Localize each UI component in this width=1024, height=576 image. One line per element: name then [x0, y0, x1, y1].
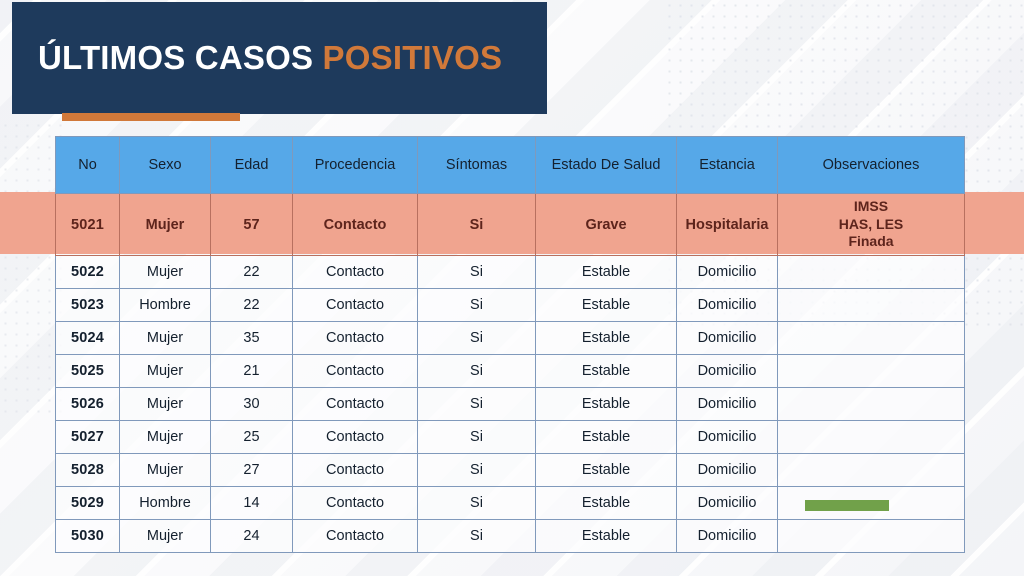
cell-observaciones	[778, 289, 965, 322]
observaciones-line: HAS, LES	[780, 216, 962, 234]
table-row[interactable]: 5026Mujer30ContactoSiEstableDomicilio	[56, 388, 965, 421]
column-header-observaciones[interactable]: Observaciones	[778, 137, 965, 194]
cell-sintomas: Si	[418, 256, 536, 289]
cell-observaciones	[778, 322, 965, 355]
cell-procedencia: Contacto	[293, 520, 418, 553]
column-header-sintomas[interactable]: Síntomas	[418, 137, 536, 194]
cell-edad: 22	[211, 289, 293, 322]
cell-estado-de-salud: Estable	[536, 256, 677, 289]
cases-table: No Sexo Edad Procedencia Síntomas Estado…	[55, 136, 965, 553]
cell-procedencia: Contacto	[293, 388, 418, 421]
cell-procedencia: Contacto	[293, 256, 418, 289]
cell-estancia: Domicilio	[677, 289, 778, 322]
cell-procedencia: Contacto	[293, 454, 418, 487]
cell-estado-de-salud: Estable	[536, 421, 677, 454]
table-row[interactable]: 5028Mujer27ContactoSiEstableDomicilio	[56, 454, 965, 487]
page-title: ÚLTIMOS CASOS POSITIVOS	[38, 40, 502, 76]
title-panel: ÚLTIMOS CASOS POSITIVOS	[12, 2, 547, 114]
slide-canvas: ÚLTIMOS CASOS POSITIVOS No Sexo Edad Pro…	[0, 0, 1024, 576]
cell-estancia: Domicilio	[677, 388, 778, 421]
cell-observaciones: IMSSHAS, LESFinada	[778, 194, 965, 256]
cell-estado-de-salud: Estable	[536, 355, 677, 388]
table-row[interactable]: 5023Hombre22ContactoSiEstableDomicilio	[56, 289, 965, 322]
cell-no: 5027	[56, 421, 120, 454]
cell-no: 5024	[56, 322, 120, 355]
title-underline-accent	[62, 113, 240, 121]
cell-observaciones	[778, 454, 965, 487]
cell-no: 5025	[56, 355, 120, 388]
page-title-accent: POSITIVOS	[323, 39, 503, 76]
cell-sexo: Hombre	[120, 289, 211, 322]
cell-no: 5029	[56, 487, 120, 520]
cell-sexo: Mujer	[120, 520, 211, 553]
cell-edad: 27	[211, 454, 293, 487]
cell-sexo: Mujer	[120, 194, 211, 256]
column-header-edad[interactable]: Edad	[211, 137, 293, 194]
cell-estancia: Domicilio	[677, 355, 778, 388]
cell-no: 5023	[56, 289, 120, 322]
cell-edad: 24	[211, 520, 293, 553]
cell-estado-de-salud: Estable	[536, 388, 677, 421]
cell-sintomas: Si	[418, 388, 536, 421]
cell-sintomas: Si	[418, 520, 536, 553]
column-header-no[interactable]: No	[56, 137, 120, 194]
cell-edad: 21	[211, 355, 293, 388]
cell-estancia: Domicilio	[677, 322, 778, 355]
cell-estado-de-salud: Estable	[536, 322, 677, 355]
table-row[interactable]: 5024Mujer35ContactoSiEstableDomicilio	[56, 322, 965, 355]
green-highlight-marker	[805, 500, 889, 511]
cell-sexo: Mujer	[120, 388, 211, 421]
cell-sexo: Mujer	[120, 256, 211, 289]
cell-edad: 57	[211, 194, 293, 256]
cell-edad: 25	[211, 421, 293, 454]
cell-observaciones	[778, 520, 965, 553]
observaciones-line: IMSS	[780, 198, 962, 216]
observaciones-line: Finada	[780, 233, 962, 251]
cell-sintomas: Si	[418, 355, 536, 388]
cell-procedencia: Contacto	[293, 487, 418, 520]
cell-observaciones	[778, 388, 965, 421]
column-header-estado-de-salud[interactable]: Estado De Salud	[536, 137, 677, 194]
cell-procedencia: Contacto	[293, 322, 418, 355]
cell-edad: 22	[211, 256, 293, 289]
cell-procedencia: Contacto	[293, 355, 418, 388]
cell-estado-de-salud: Estable	[536, 487, 677, 520]
cell-estancia: Domicilio	[677, 421, 778, 454]
cell-no: 5022	[56, 256, 120, 289]
column-header-procedencia[interactable]: Procedencia	[293, 137, 418, 194]
cell-estancia: Domicilio	[677, 454, 778, 487]
table-row[interactable]: 5025Mujer21ContactoSiEstableDomicilio	[56, 355, 965, 388]
page-title-main: ÚLTIMOS CASOS	[38, 39, 323, 76]
cell-estado-de-salud: Grave	[536, 194, 677, 256]
cell-estado-de-salud: Estable	[536, 454, 677, 487]
cell-sintomas: Si	[418, 322, 536, 355]
cell-procedencia: Contacto	[293, 289, 418, 322]
cell-sexo: Mujer	[120, 322, 211, 355]
table-row[interactable]: 5027Mujer25ContactoSiEstableDomicilio	[56, 421, 965, 454]
cell-sintomas: Si	[418, 454, 536, 487]
cell-procedencia: Contacto	[293, 421, 418, 454]
cell-estado-de-salud: Estable	[536, 520, 677, 553]
cell-no: 5026	[56, 388, 120, 421]
cell-estancia: Domicilio	[677, 520, 778, 553]
cell-estado-de-salud: Estable	[536, 289, 677, 322]
table-header-row: No Sexo Edad Procedencia Síntomas Estado…	[56, 137, 965, 194]
cell-edad: 30	[211, 388, 293, 421]
column-header-estancia[interactable]: Estancia	[677, 137, 778, 194]
table-body: 5021Mujer57ContactoSiGraveHospitalariaIM…	[56, 194, 965, 553]
cell-procedencia: Contacto	[293, 194, 418, 256]
column-header-sexo[interactable]: Sexo	[120, 137, 211, 194]
cell-sexo: Mujer	[120, 421, 211, 454]
cell-observaciones	[778, 421, 965, 454]
cell-sintomas: Si	[418, 487, 536, 520]
cell-sintomas: Si	[418, 194, 536, 256]
cell-estancia: Domicilio	[677, 487, 778, 520]
cell-sintomas: Si	[418, 289, 536, 322]
table-head: No Sexo Edad Procedencia Síntomas Estado…	[56, 137, 965, 194]
cell-no: 5021	[56, 194, 120, 256]
cell-estancia: Hospitalaria	[677, 194, 778, 256]
cell-no: 5028	[56, 454, 120, 487]
cell-sexo: Mujer	[120, 454, 211, 487]
cases-table-container: No Sexo Edad Procedencia Síntomas Estado…	[55, 136, 964, 553]
cell-observaciones	[778, 256, 965, 289]
table-row[interactable]: 5022Mujer22ContactoSiEstableDomicilio	[56, 256, 965, 289]
cell-edad: 35	[211, 322, 293, 355]
cell-observaciones	[778, 355, 965, 388]
cell-sexo: Mujer	[120, 355, 211, 388]
table-row[interactable]: 5030Mujer24ContactoSiEstableDomicilio	[56, 520, 965, 553]
cell-sexo: Hombre	[120, 487, 211, 520]
table-row[interactable]: 5021Mujer57ContactoSiGraveHospitalariaIM…	[56, 194, 965, 256]
cell-estancia: Domicilio	[677, 256, 778, 289]
cell-sintomas: Si	[418, 421, 536, 454]
cell-no: 5030	[56, 520, 120, 553]
cell-edad: 14	[211, 487, 293, 520]
